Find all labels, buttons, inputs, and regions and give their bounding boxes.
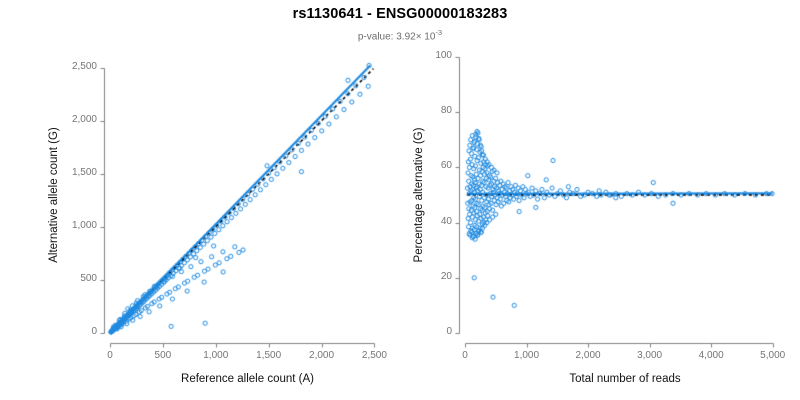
x-tick-label: 2,000 <box>292 350 352 361</box>
y-tick-label: 2,500 <box>72 61 97 72</box>
y-axis-title: Percentage alternative (G) <box>413 128 425 263</box>
x-tick-label: 0 <box>435 350 495 361</box>
x-tick-label: 3,000 <box>620 350 680 361</box>
y-tick-label: 1,500 <box>72 167 97 178</box>
x-axis-title: Reference allele count (A) <box>181 373 314 385</box>
x-tick-label: 1,500 <box>239 350 299 361</box>
y-tick-label: 0 <box>91 326 97 337</box>
x-tick-label: 5,000 <box>743 350 800 361</box>
y-tick-label: 2,000 <box>72 114 97 125</box>
y-tick-label: 1,000 <box>72 220 97 231</box>
y-tick-label: 100 <box>435 50 452 61</box>
y-tick-label: 80 <box>441 105 452 116</box>
x-tick-label: 1,000 <box>497 350 557 361</box>
y-axis-title: Alternative allele count (G) <box>48 127 60 263</box>
x-tick-label: 4,000 <box>681 350 741 361</box>
y-tick-label: 0 <box>446 326 452 337</box>
x-axis-title: Total number of reads <box>569 373 680 385</box>
x-tick-label: 1,000 <box>186 350 246 361</box>
scatter-plot-canvas <box>0 0 800 400</box>
y-tick-label: 40 <box>441 216 452 227</box>
y-tick-label: 60 <box>441 160 452 171</box>
x-tick-label: 0 <box>80 350 140 361</box>
figure-container: rs1130641 - ENSG00000183283 p-value: 3.9… <box>0 0 800 400</box>
y-tick-label: 500 <box>80 273 97 284</box>
x-tick-label: 500 <box>133 350 193 361</box>
y-tick-label: 20 <box>441 271 452 282</box>
x-tick-label: 2,500 <box>344 350 404 361</box>
x-tick-label: 2,000 <box>558 350 618 361</box>
